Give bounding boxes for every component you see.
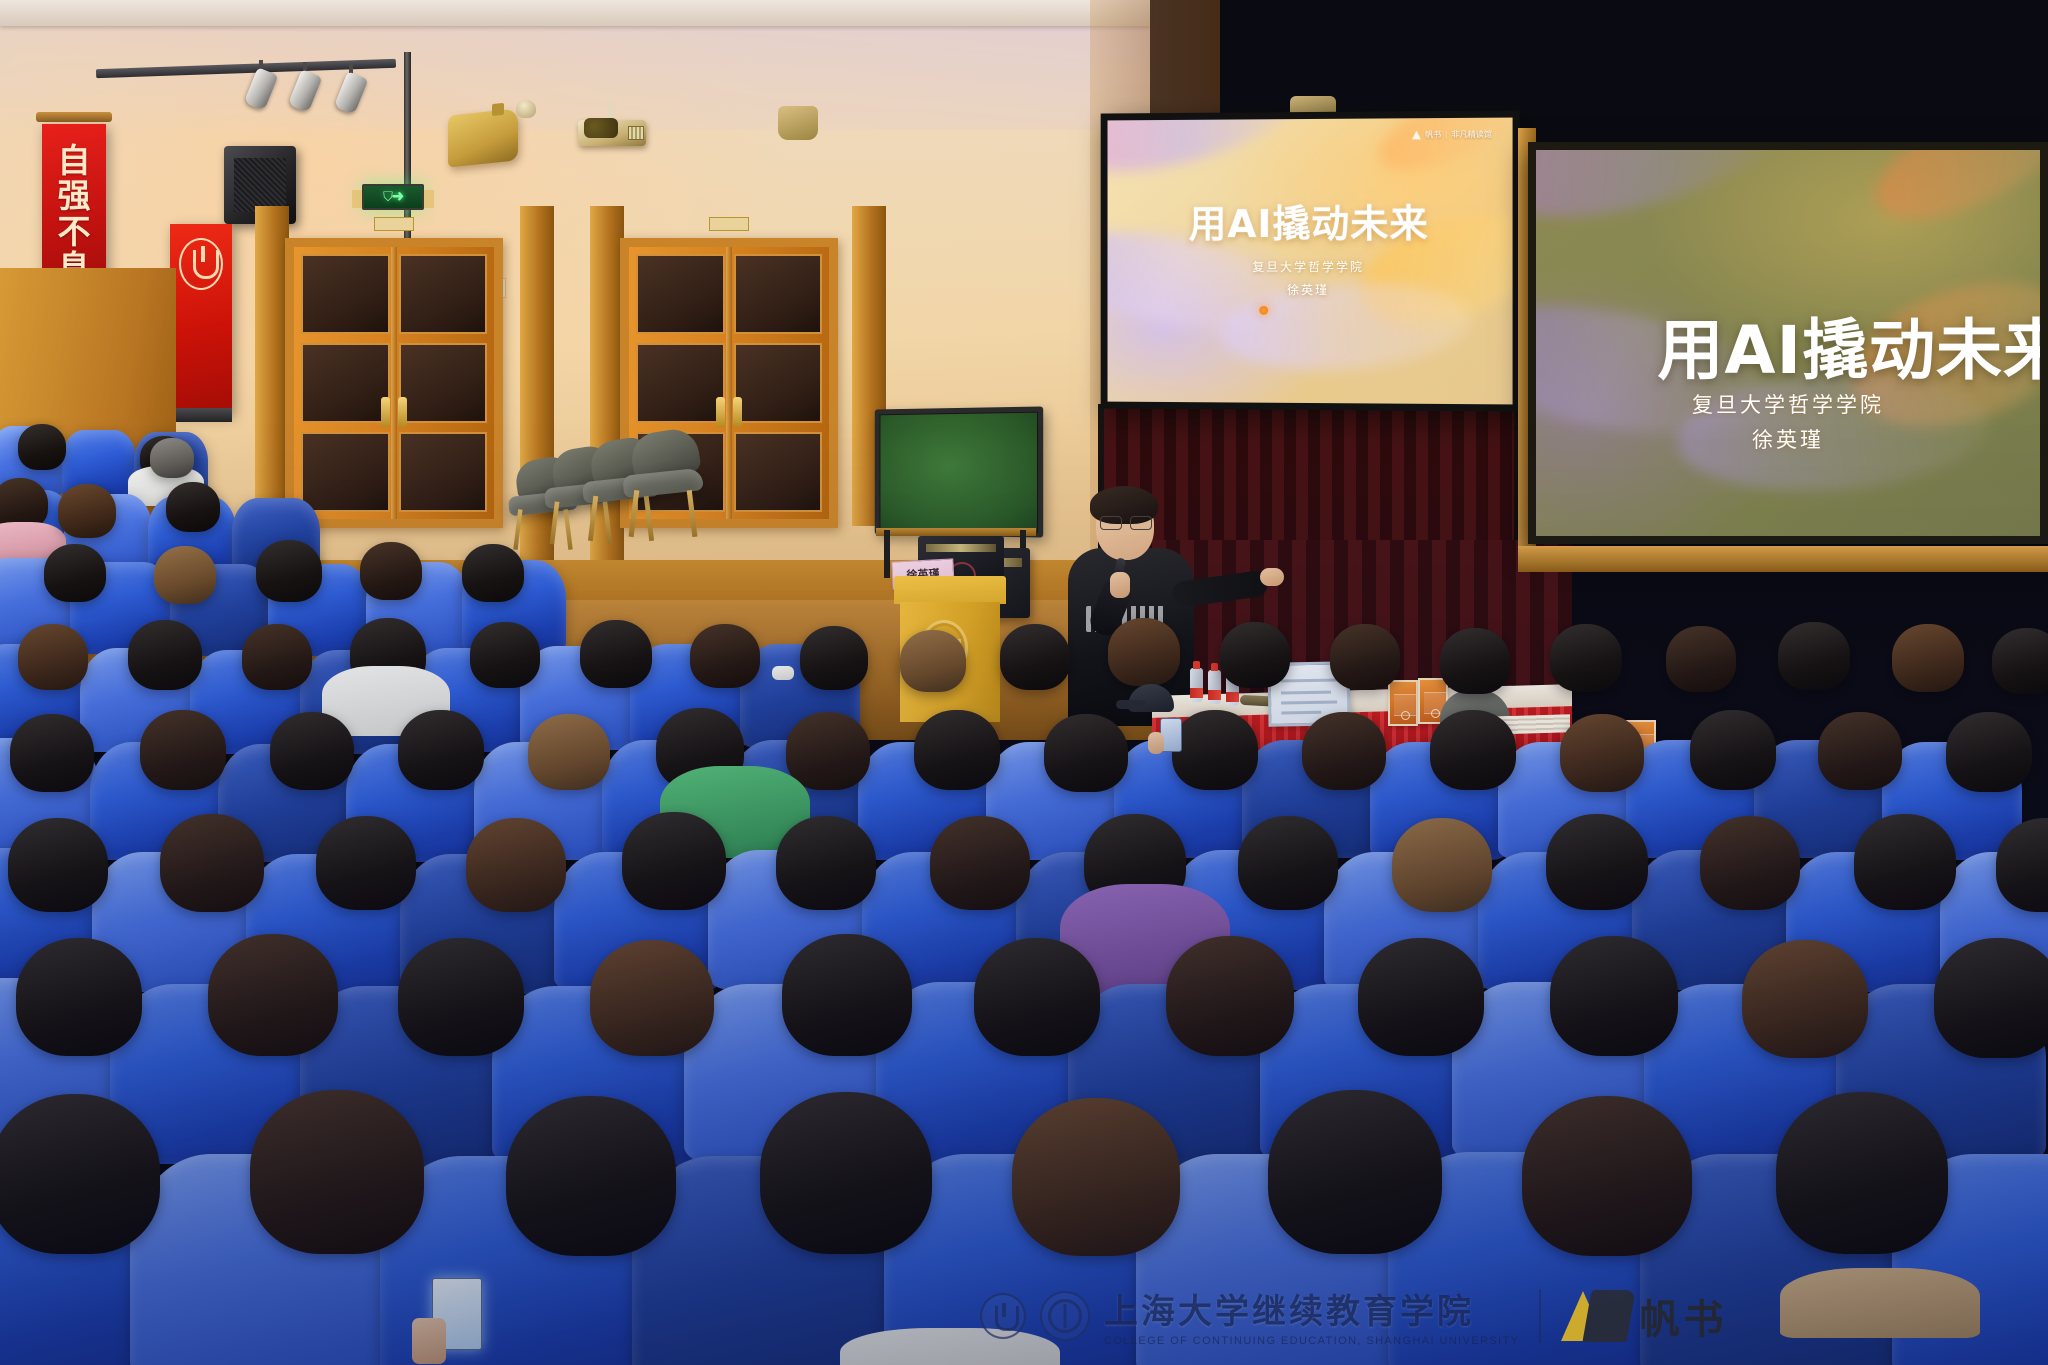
audience-head — [1108, 618, 1180, 686]
audience-head — [470, 622, 540, 688]
slide2-subtitle-org: 复旦大学哲学学院 — [1536, 389, 2040, 419]
audience-head — [1012, 1098, 1180, 1256]
audience-head — [1700, 816, 1800, 910]
audience-head — [1220, 622, 1290, 688]
audience-head — [786, 712, 870, 790]
main-projection-screen: 帆书 | 非凡精读馆 用AI撬动未来 复旦大学哲学学院 徐英瑾 — [1101, 110, 1520, 411]
audience-head — [622, 812, 726, 910]
fanshu-sail-icon — [1583, 1290, 1636, 1342]
audience-head — [256, 540, 322, 602]
door-placard — [374, 217, 414, 231]
fanshu-logo-icon — [1412, 131, 1421, 140]
audience-head — [160, 814, 264, 912]
audience-head — [1550, 936, 1678, 1056]
audience-head — [1934, 938, 2048, 1058]
audience-head — [1440, 628, 1510, 694]
audience-head — [1430, 710, 1516, 790]
audience-head — [1522, 1096, 1692, 1256]
shanghai-university-seal-icon — [179, 238, 223, 290]
audience-head — [398, 938, 524, 1056]
audience-head — [1992, 628, 2048, 694]
slide-subtitle-org: 复旦大学哲学学院 — [1108, 258, 1513, 275]
audience-head — [360, 542, 422, 600]
audience-head — [466, 818, 566, 912]
motto-char-2: 强 — [58, 178, 91, 214]
slide-brand-sub: 非凡精读馆 — [1451, 129, 1492, 140]
exit-sign: ⛉➜ — [362, 184, 424, 210]
audience-head — [1000, 624, 1070, 690]
audience-head — [506, 1096, 676, 1256]
audience-head — [782, 934, 912, 1056]
audience-head — [18, 624, 88, 690]
raised-hand — [412, 1318, 446, 1364]
slide-brand-lockup: 帆书 | 非凡精读馆 — [1412, 129, 1492, 141]
slide2-title: 用AI撬动未来 — [1536, 297, 2040, 393]
watermark-lockup: 上海大学继续教育学院 COLLEGE OF CONTINUING EDUCATI… — [980, 1284, 1727, 1347]
audience-head — [166, 482, 220, 532]
audience-head — [690, 624, 760, 688]
audience-head — [208, 934, 338, 1056]
audience-head — [242, 624, 312, 690]
audience-head — [8, 818, 108, 912]
audience-head — [1238, 816, 1338, 910]
audience-head — [154, 546, 216, 604]
audience-head — [58, 484, 116, 538]
audience-head — [1172, 710, 1258, 790]
audience-head — [1392, 818, 1492, 912]
audience-head — [0, 1094, 160, 1254]
audience-head — [1892, 624, 1964, 692]
audience-head — [270, 712, 354, 790]
motto-char-3: 不 — [58, 214, 91, 250]
audience-head — [1166, 936, 1294, 1056]
audience-area — [0, 418, 2048, 1365]
audience-head — [1854, 814, 1956, 910]
slide-brand-separator: | — [1445, 130, 1447, 139]
audience-head — [1560, 714, 1644, 792]
ceiling-speaker-icon — [448, 108, 518, 167]
audience-head — [1302, 712, 1386, 790]
audience-head — [1778, 622, 1850, 690]
audience-head — [528, 714, 610, 790]
ceiling-trim — [0, 0, 1150, 26]
audience-head — [18, 424, 66, 470]
audience-head — [1330, 624, 1400, 690]
shanghai-university-seal-icon — [980, 1293, 1026, 1339]
college-seal-icon — [1040, 1291, 1090, 1341]
watermark-org-cn: 上海大学继续教育学院 — [1104, 1284, 1519, 1333]
exit-sign-glyph: ⛉➜ — [383, 189, 403, 205]
audience-head — [10, 714, 94, 792]
audience-head — [1550, 624, 1622, 692]
raised-hand — [1148, 732, 1164, 754]
spotlight-icon — [340, 64, 362, 112]
watermark-divider — [1539, 1289, 1541, 1343]
audience-head — [580, 620, 652, 688]
door-placard — [709, 217, 749, 231]
audience-head — [900, 630, 966, 692]
baseball-cap-icon — [1128, 684, 1174, 712]
audience-head — [760, 1092, 932, 1254]
audience-head — [150, 438, 194, 478]
watermark-org-en: COLLEGE OF CONTINUING EDUCATION, SHANGHA… — [1104, 1335, 1519, 1347]
wall-speaker-icon — [778, 106, 818, 140]
fanshu-wordmark: 帆书 — [1639, 1287, 1727, 1345]
audience-head — [974, 938, 1100, 1056]
audience-head — [1946, 712, 2032, 792]
audience-head — [316, 816, 416, 910]
audience-head — [128, 620, 202, 690]
banner-rod — [36, 112, 112, 122]
slide-title: 用AI撬动未来 — [1108, 192, 1513, 248]
lecture-hall-photo: ⛉➜ 自 强 不 息 — [0, 0, 2048, 1365]
audience-head — [1818, 712, 1902, 790]
audience-head — [800, 626, 868, 690]
audience-head — [44, 544, 106, 602]
audience-head — [1690, 710, 1776, 790]
audience-head — [1742, 940, 1868, 1058]
spotlight-icon — [250, 60, 272, 108]
ceiling-projector — [578, 108, 646, 146]
audience-shoulders — [1780, 1268, 1980, 1338]
audience-head — [16, 938, 142, 1056]
audience-head — [1268, 1090, 1442, 1254]
audience-head — [1776, 1092, 1948, 1254]
audience-head — [590, 940, 714, 1056]
audience-head — [1358, 938, 1484, 1056]
spotlight-icon — [294, 62, 316, 110]
smoke-detector-icon — [516, 100, 536, 118]
audience-head — [250, 1090, 424, 1254]
university-seal-banner — [170, 224, 232, 414]
audience-head — [462, 544, 524, 602]
motto-char-1: 自 — [58, 143, 91, 179]
audience-head — [1546, 814, 1648, 910]
audience-head — [1044, 714, 1128, 792]
slide-subtitle-speaker: 徐英瑾 — [1108, 281, 1513, 299]
audience-head — [1666, 626, 1736, 692]
audience-head — [398, 710, 484, 790]
audience-head — [914, 710, 1000, 790]
slide-brand-name: 帆书 — [1425, 129, 1441, 140]
audience-head — [140, 710, 226, 790]
audience-head — [930, 816, 1030, 910]
audience-head — [776, 816, 876, 910]
face-mask-icon — [772, 666, 794, 680]
fanshu-logo: 帆书 — [1561, 1287, 1727, 1345]
